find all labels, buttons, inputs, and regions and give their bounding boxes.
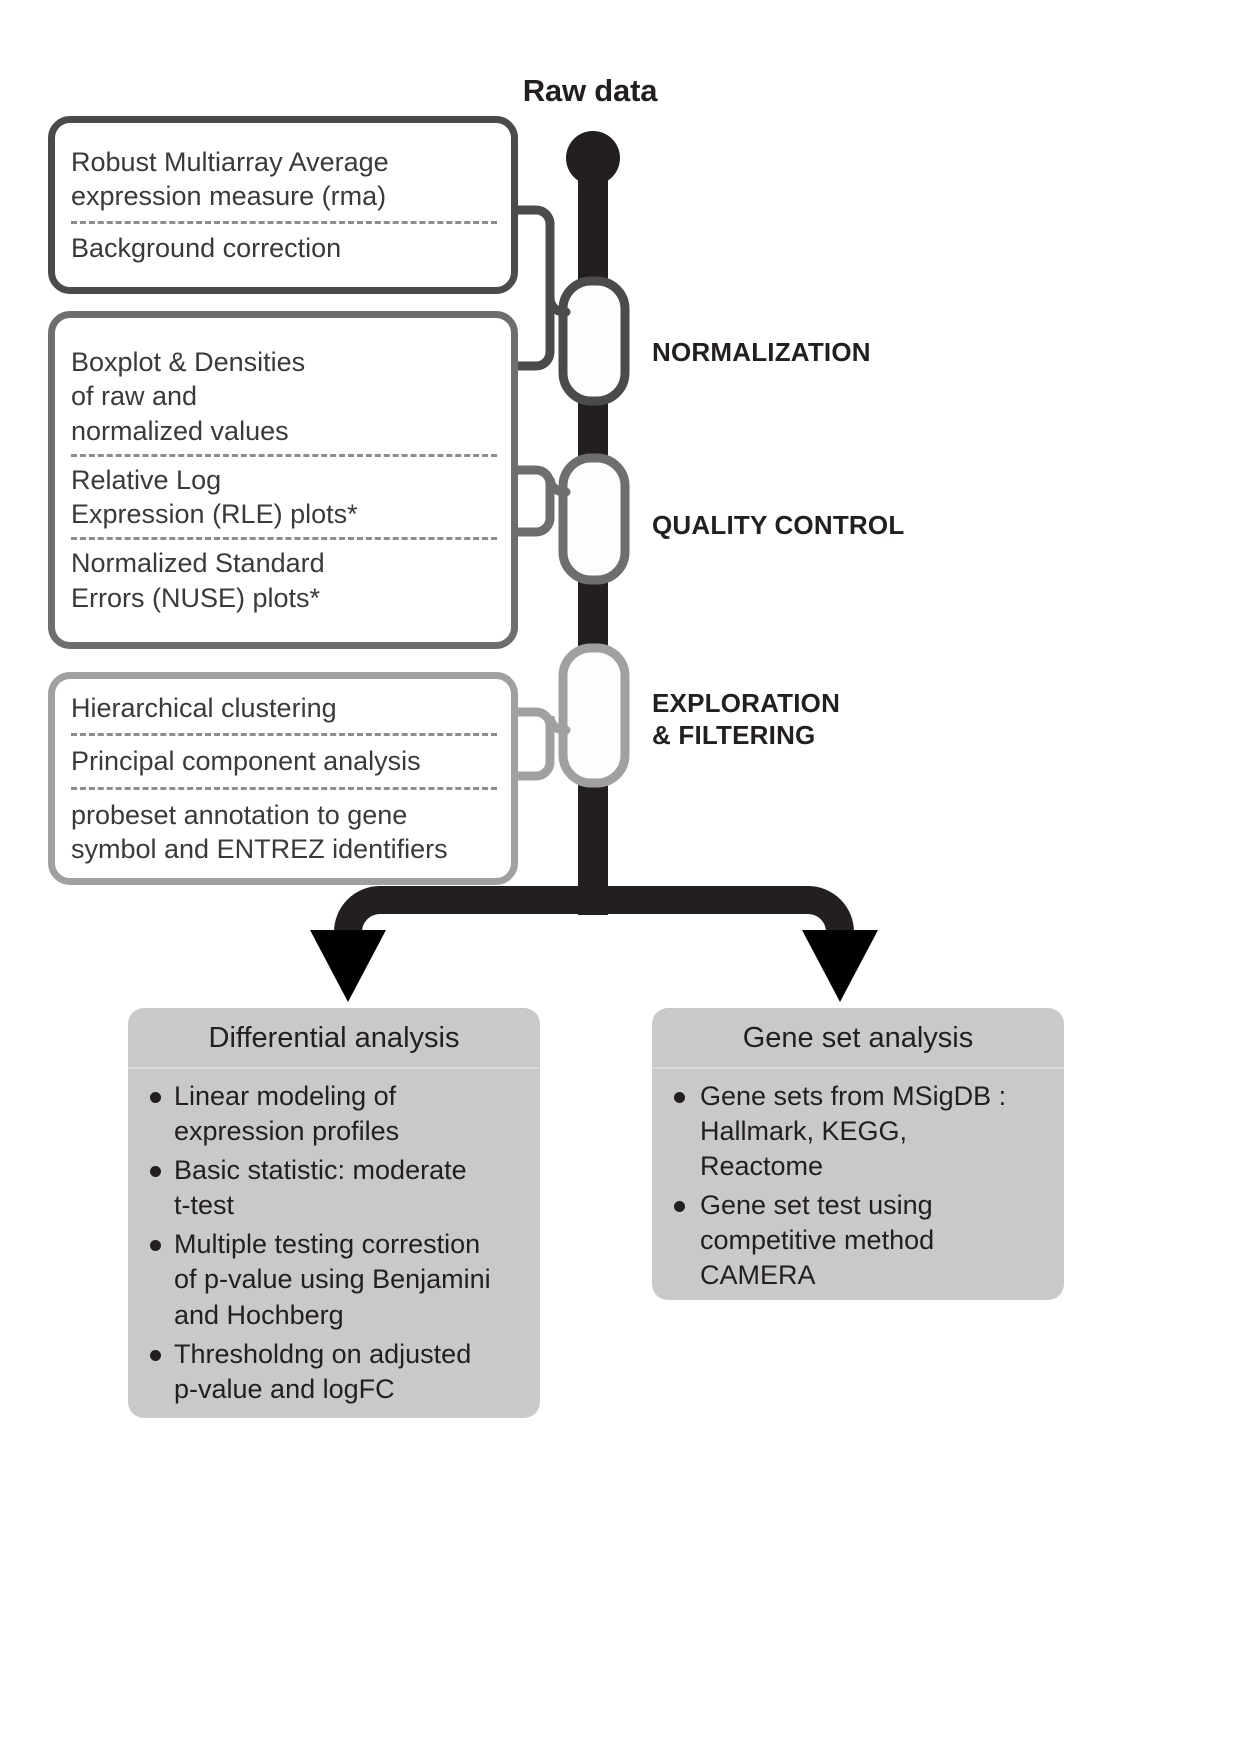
start-node-icon: [566, 131, 620, 185]
card-title: Gene set analysis: [652, 1008, 1064, 1069]
stage-knob-exploration: [563, 648, 625, 783]
step-row: probeset annotation to gene symbol and E…: [71, 787, 497, 875]
step-row: Robust Multiarray Average expression mea…: [71, 138, 497, 221]
step-panel-body: Boxplot & Densities of raw and normalize…: [55, 318, 511, 642]
bullet-list: Gene sets from MSigDB : Hallmark, KEGG, …: [652, 1069, 1064, 1312]
step-row: Relative Log Expression (RLE) plots*: [71, 454, 497, 538]
list-item: Multiple testing correstion of p-value u…: [144, 1227, 524, 1332]
connector-exploration: [514, 712, 566, 730]
result-card-differential-analysis: Differential analysis Linear modeling of…: [128, 1008, 540, 1418]
branch-arrow-left: [348, 900, 593, 950]
step-row: Principal component analysis: [71, 733, 497, 786]
list-item: Gene set test using competitive method C…: [668, 1188, 1048, 1293]
step-panel-body: Robust Multiarray Average expression mea…: [55, 123, 511, 287]
page-title: Raw data: [470, 73, 710, 109]
step-row: Hierarchical clustering: [71, 683, 497, 733]
list-item: Basic statistic: moderate t-test: [144, 1153, 524, 1223]
arrow-down-icon-left: [310, 930, 386, 1002]
step-panel-exploration-filtering: Hierarchical clustering Principal compon…: [48, 672, 518, 885]
list-item: Thresholdng on adjusted p-value and logF…: [144, 1337, 524, 1407]
list-item: Gene sets from MSigDB : Hallmark, KEGG, …: [668, 1079, 1048, 1184]
step-row: Normalized Standard Errors (NUSE) plots*: [71, 537, 497, 621]
step-row: Background correction: [71, 221, 497, 272]
list-item: Linear modeling of expression profiles: [144, 1079, 524, 1149]
connector-normalization: [514, 210, 566, 312]
stage-knob-quality-control: [563, 458, 625, 580]
step-panel-normalization: Robust Multiarray Average expression mea…: [48, 116, 518, 294]
step-row: Boxplot & Densities of raw and normalize…: [71, 339, 497, 454]
card-title: Differential analysis: [128, 1008, 540, 1069]
arrow-down-icon-right: [802, 930, 878, 1002]
stage-label-quality-control: QUALITY CONTROL: [652, 510, 904, 542]
spine-segment-2: [578, 575, 608, 655]
result-card-gene-set-analysis: Gene set analysis Gene sets from MSigDB …: [652, 1008, 1064, 1300]
stage-knob-normalization: [563, 281, 625, 401]
stage-label-exploration-filtering: EXPLORATION & FILTERING: [652, 688, 840, 751]
bullet-list: Linear modeling of expression profiles B…: [128, 1069, 540, 1425]
step-panel-body: Hierarchical clustering Principal compon…: [55, 679, 511, 878]
connector-quality-control: [514, 470, 566, 492]
step-panel-quality-control: Boxplot & Densities of raw and normalize…: [48, 311, 518, 649]
stage-label-normalization: NORMALIZATION: [652, 337, 871, 369]
branch-arrow-right: [593, 900, 840, 950]
